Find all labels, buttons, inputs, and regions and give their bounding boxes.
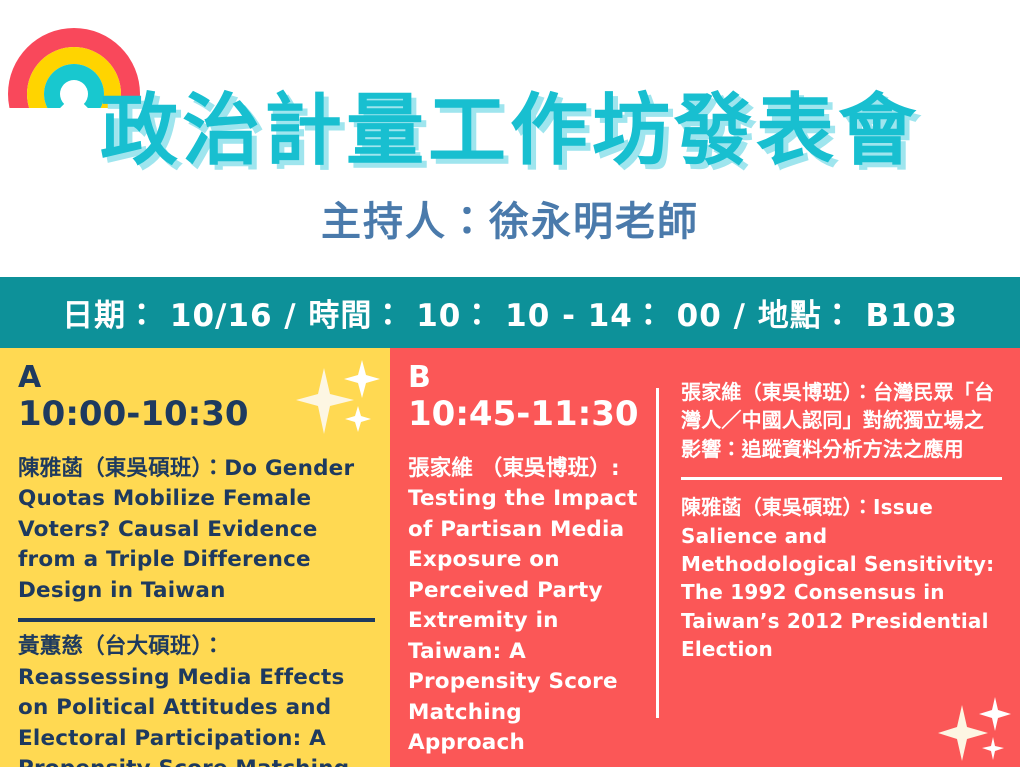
divider [18, 618, 375, 622]
page-title: 政治計量工作坊發表會 [100, 92, 920, 170]
sessions-container: A 10:00-10:30 陳雅菡（東吳碩班）：Do Gender Quotas… [0, 348, 1020, 767]
session-b-time: 10:45-11:30 [408, 395, 642, 434]
subtitle-container: 主持人：徐永明老師 [0, 200, 1020, 244]
info-band-text: 日期： 10/16 / 時間： 10： 10 - 14： 00 / 地點： B1… [62, 290, 958, 335]
talk-item: 張家維 （東吳博班）: Testing the Impact of Partis… [408, 454, 642, 759]
host-subtitle: 主持人：徐永明老師 [321, 200, 699, 244]
poster-canvas: 政治計量工作坊發表會 主持人：徐永明老師 日期： 10/16 / 時間： 10：… [0, 0, 1020, 767]
talk-item: 張家維（東吳博班）：台灣民眾「台灣人／中國人認同」對統獨立場之影響：追蹤資料分析… [681, 378, 1002, 463]
divider [681, 477, 1002, 480]
talk-item: 陳雅菡（東吳碩班）：Issue Salience and Methodologi… [681, 493, 1002, 663]
session-panel-a: A 10:00-10:30 陳雅菡（東吳碩班）：Do Gender Quotas… [0, 348, 390, 767]
session-b-column-right: 張家維（東吳博班）：台灣民眾「台灣人／中國人認同」對統獨立場之影響：追蹤資料分析… [659, 348, 1020, 767]
session-b-column-left: B 10:45-11:30 張家維 （東吳博班）: Testing the Im… [390, 348, 656, 767]
title-container: 政治計量工作坊發表會 [0, 92, 1020, 170]
session-b-letter: B [408, 362, 642, 394]
talk-item: 陳雅菡（東吳碩班）：Do Gender Quotas Mobilize Fema… [18, 454, 374, 607]
session-a-time: 10:00-10:30 [18, 395, 374, 434]
info-band: 日期： 10/16 / 時間： 10： 10 - 14： 00 / 地點： B1… [0, 277, 1020, 348]
session-panel-b: B 10:45-11:30 張家維 （東吳博班）: Testing the Im… [390, 348, 1020, 767]
talk-item: 黃蕙慈（台大碩班）：Reassessing Media Effects on P… [18, 632, 374, 767]
session-a-letter: A [18, 362, 374, 394]
